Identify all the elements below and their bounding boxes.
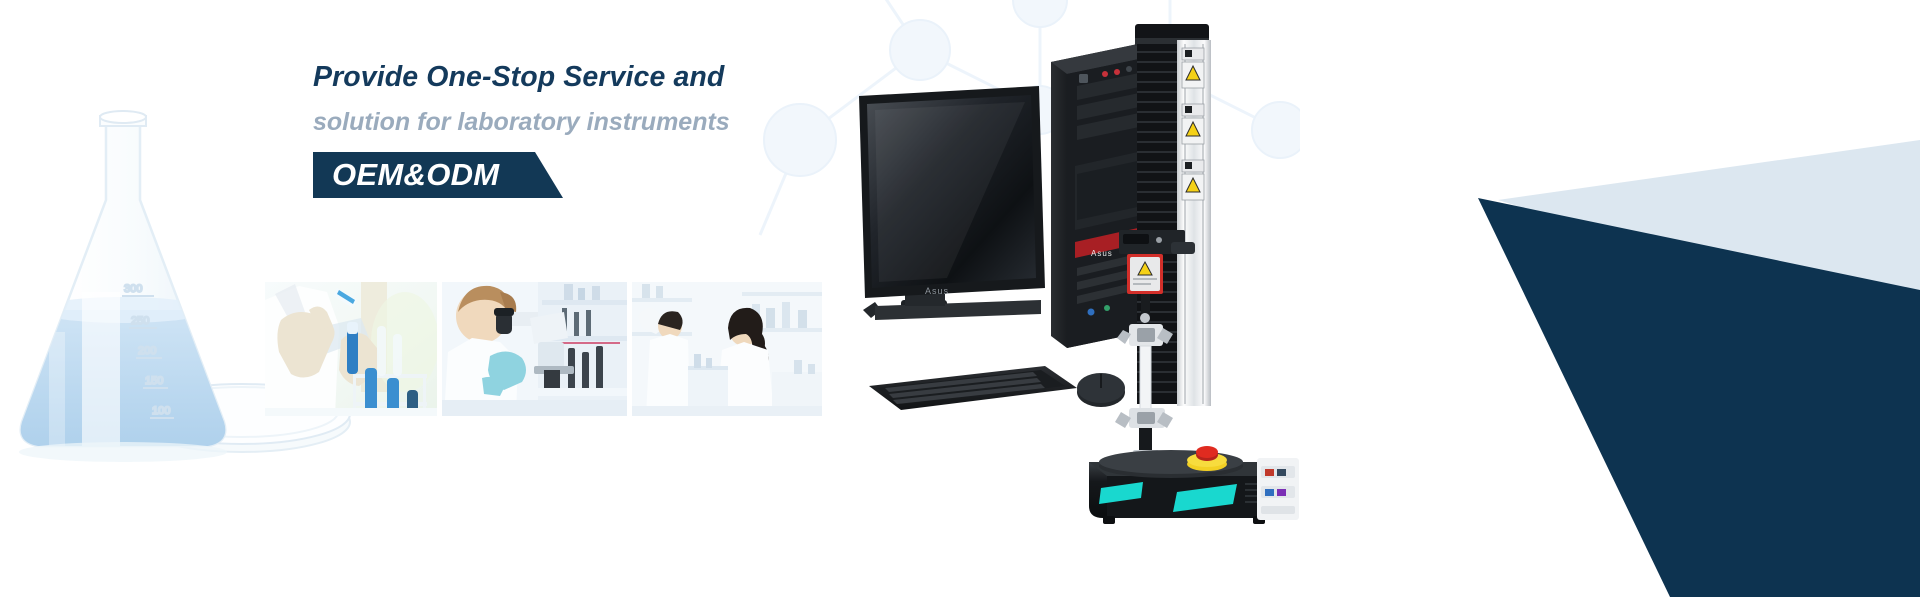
triangle-light-icon [1498,140,1920,330]
triangle-dark-icon [1478,198,1920,597]
photo-laboratory-workers [632,282,822,416]
svg-text:300: 300 [124,283,142,295]
svg-text:100: 100 [152,405,170,417]
keyboard [869,366,1077,410]
badge-label: OEM&ODM [332,157,499,193]
emergency-stop-button [1187,446,1227,471]
svg-text:200: 200 [138,345,156,357]
hero-banner: 300 250 200 150 100 Provide One-Stop Ser… [0,0,1920,597]
monitor: Asus [859,86,1045,320]
svg-text:Asus: Asus [925,286,949,296]
oem-odm-badge: OEM&ODM [313,152,563,198]
svg-text:150: 150 [145,375,163,387]
base-console [1089,446,1281,524]
universal-tensile-testing-machine [1085,14,1300,524]
warning-label [1182,48,1204,200]
photo-microscope-researcher [442,282,627,416]
control-box [1257,458,1299,520]
photo-gloved-hands-test-tubes [265,282,437,416]
load-cell [1127,254,1163,294]
svg-text:250: 250 [131,315,149,327]
photo-strip [265,282,822,416]
